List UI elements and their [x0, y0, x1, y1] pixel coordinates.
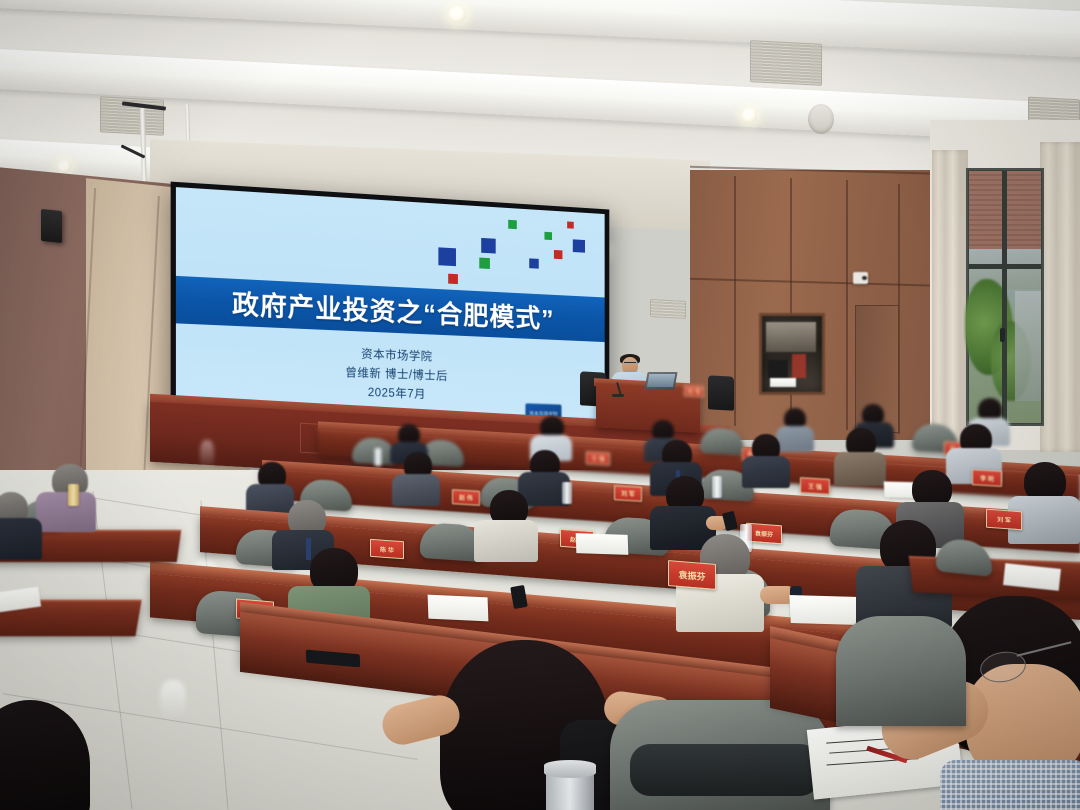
window-handle[interactable] — [1000, 328, 1005, 342]
name-placard: 袁振芬 — [668, 560, 716, 590]
tea-bottle — [68, 484, 79, 506]
attendee-torso — [392, 474, 440, 506]
decor-square — [508, 220, 517, 229]
decor-square — [448, 274, 458, 284]
control-room-window — [759, 313, 825, 395]
decor-square — [573, 239, 585, 252]
name-placard: 王 强 — [586, 451, 610, 465]
floor-reflection — [160, 680, 186, 720]
attendee-torso — [834, 452, 886, 486]
lanyard — [306, 538, 311, 560]
attendee-torso — [474, 520, 538, 562]
speaker-glasses-icon — [624, 362, 636, 366]
window — [966, 168, 1044, 426]
chair-foreground-right — [836, 616, 966, 726]
attendee-torso — [742, 456, 790, 488]
water-bottle — [562, 482, 572, 504]
ceiling-speaker-icon — [808, 104, 834, 134]
attendee-torso — [776, 426, 814, 452]
air-vent — [650, 299, 686, 319]
thermos-cap — [544, 760, 596, 778]
wood-seam — [846, 180, 848, 430]
downlight — [58, 160, 71, 173]
decor-square — [567, 221, 574, 228]
name-placard: 赵 伟 — [452, 489, 480, 506]
water-bottle — [712, 476, 722, 498]
decor-square — [554, 250, 563, 259]
floor-reflection — [200, 440, 214, 470]
attendee-torso — [36, 492, 96, 532]
microphone-base — [612, 394, 624, 397]
decor-square — [529, 258, 539, 268]
stage-placard: 刘 军 — [684, 385, 704, 397]
slide-title: 政府产业投资之“合肥模式” — [232, 283, 554, 335]
paper — [428, 595, 489, 622]
paper — [789, 595, 860, 625]
curtain-right — [1040, 142, 1080, 452]
paper — [576, 533, 629, 555]
wall-speaker-icon — [41, 209, 62, 243]
decor-square — [438, 247, 456, 266]
name-placard: 李 明 — [972, 469, 1002, 487]
air-vent — [750, 40, 822, 86]
slide-title-band: 政府产业投资之“合肥模式” — [176, 276, 605, 342]
speaker-laptop — [644, 372, 677, 390]
foreground-man-shirt — [940, 760, 1080, 810]
downlight — [449, 6, 466, 23]
security-camera-icon — [853, 272, 868, 284]
decor-square — [481, 238, 495, 254]
decor-square — [544, 232, 552, 240]
downlight — [742, 108, 757, 123]
lecture-hall-photo: 政府产业投资之“合肥模式” 资本市场学院 曾维新 博士/博士后 2025年7月 … — [0, 0, 1080, 810]
curtain-left — [932, 150, 968, 450]
name-placard: 刘 军 — [986, 509, 1022, 531]
attendee-torso — [0, 518, 42, 560]
water-bottle — [374, 448, 382, 466]
chair-foreground-lower — [630, 744, 820, 796]
stage-chair — [708, 375, 734, 410]
wood-seam — [734, 176, 736, 426]
name-placard: 陈 华 — [370, 539, 404, 559]
name-placard: 王 强 — [800, 477, 830, 495]
name-placard: 刘 军 — [614, 485, 642, 502]
decor-square — [479, 258, 490, 269]
